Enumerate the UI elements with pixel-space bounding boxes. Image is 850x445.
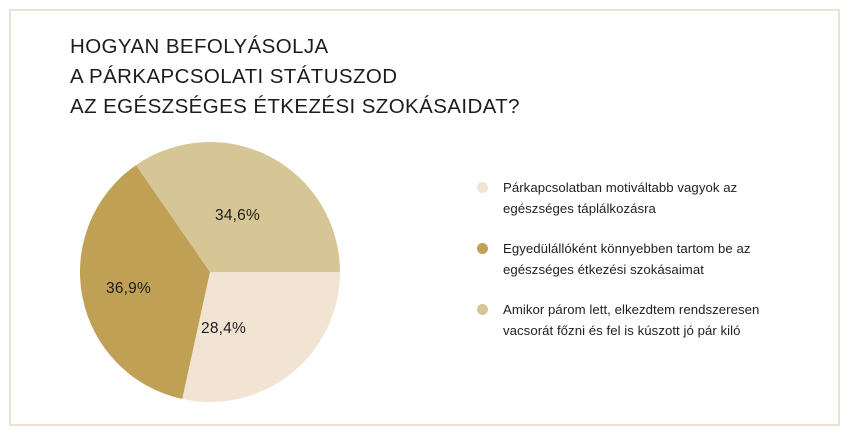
legend-color-dot-icon	[477, 304, 488, 315]
legend-color-dot-icon	[477, 182, 488, 193]
pie-chart-svg	[80, 142, 340, 402]
infographic-canvas: HOGYAN BEFOLYÁSOLJA A PÁRKAPCSOLATI STÁT…	[0, 0, 850, 445]
title-line-2: A PÁRKAPCSOLATI STÁTUSZOD	[70, 62, 590, 92]
pie-slice-label-0: 28,4%	[201, 320, 246, 338]
page-title: HOGYAN BEFOLYÁSOLJA A PÁRKAPCSOLATI STÁT…	[70, 32, 590, 122]
title-line-3: AZ EGÉSZSÉGES ÉTKEZÉSI SZOKÁSAIDAT?	[70, 92, 590, 122]
title-line-1: HOGYAN BEFOLYÁSOLJA	[70, 32, 590, 62]
legend-item-label: Amikor párom lett, elkezdtem rendszerese…	[503, 300, 798, 341]
legend-color-dot-icon	[477, 243, 488, 254]
legend-item[interactable]: Párkapcsolatban motiváltabb vagyok az eg…	[477, 178, 807, 219]
legend-item[interactable]: Amikor párom lett, elkezdtem rendszerese…	[477, 300, 807, 341]
legend-item-label: Egyedülállóként könnyebben tartom be az …	[503, 239, 798, 280]
chart-legend: Párkapcsolatban motiváltabb vagyok az eg…	[477, 178, 807, 361]
legend-item[interactable]: Egyedülállóként könnyebben tartom be az …	[477, 239, 807, 280]
legend-item-label: Párkapcsolatban motiváltabb vagyok az eg…	[503, 178, 798, 219]
pie-chart	[80, 142, 340, 402]
pie-slice-label-2: 34,6%	[215, 207, 260, 225]
pie-slice-label-1: 36,9%	[106, 280, 151, 298]
